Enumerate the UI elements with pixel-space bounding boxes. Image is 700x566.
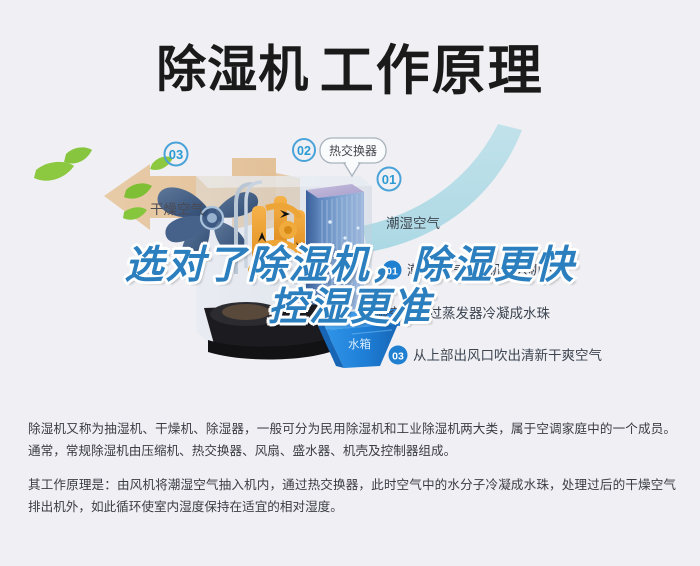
heat-exchanger-label: 热交换器: [329, 143, 377, 158]
page-title-part2: 工作原理: [320, 41, 544, 101]
humid-air-label: 潮湿空气: [386, 216, 440, 231]
dehumidifier-diagram: 03 干燥空气 02 热交换器 01 潮湿空气 水箱 01 潮湿空气由风机抽: [0, 118, 700, 386]
body-paragraph-1: 除湿机又称为抽湿机、干燥机、除湿器，一般可分为民用除湿机和工业除湿机两大类，属于…: [28, 418, 676, 462]
step-03-badge: 03: [392, 351, 404, 363]
page-title: 除湿机 工作原理: [0, 26, 700, 105]
infographic-page: 除湿机 工作原理: [0, 0, 700, 566]
body-copy: 除湿机又称为抽湿机、干燥机、除湿器，一般可分为民用除湿机和工业除湿机两大类，属于…: [28, 418, 676, 518]
body-paragraph-2: 其工作原理是：由风机将潮湿空气抽入机内，通过热交换器，此时空气中的水分子冷凝成水…: [28, 474, 676, 518]
water-tank-label: 水箱: [348, 337, 371, 351]
step-01-badge: 01: [386, 266, 398, 278]
step-01-text: 潮湿空气由风机抽入机内: [407, 263, 556, 278]
list-item-step-03: 03 从上部出风口吹出清新干爽空气: [389, 346, 603, 365]
dry-air-label: 干燥空气: [150, 202, 204, 217]
step-03-text: 从上部出风口吹出清新干爽空气: [413, 348, 602, 363]
heat-exchanger-badge: 02: [297, 144, 311, 158]
unit-base: [204, 302, 330, 360]
humid-air-badge: 01: [382, 172, 396, 187]
heat-exchanger-coil: [306, 184, 364, 314]
list-item-step-02: 潮湿空气经过蒸发器冷凝成水珠: [337, 305, 551, 324]
page-title-part1: 除湿机: [156, 42, 309, 98]
step-02-text: 潮湿空气经过蒸发器冷凝成水珠: [361, 306, 550, 321]
sidebar-item-heat-exchanger: 02 热交换器: [293, 138, 386, 176]
list-item-step-01: 01 潮湿空气由风机抽入机内: [383, 261, 556, 280]
dry-air-badge: 03: [169, 147, 183, 162]
